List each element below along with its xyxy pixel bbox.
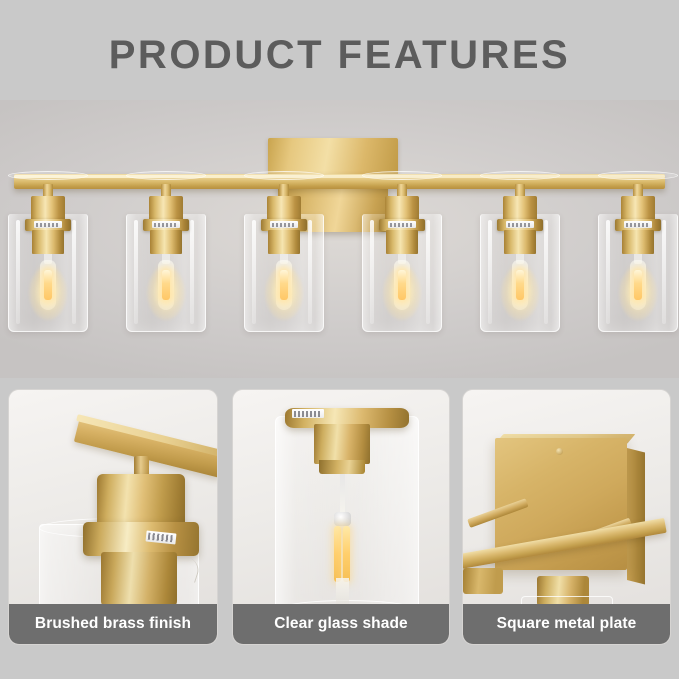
rail-highlight bbox=[14, 175, 665, 178]
bulb-stem bbox=[340, 474, 345, 516]
filament-right bbox=[343, 526, 350, 582]
header: PRODUCT FEATURES bbox=[0, 0, 679, 110]
socket-cap bbox=[97, 474, 185, 528]
sticker-microtext bbox=[148, 533, 175, 543]
bulb-socket bbox=[314, 424, 370, 464]
glass-glint-left bbox=[488, 220, 492, 324]
glass-bottom-rim bbox=[126, 171, 206, 180]
bulb-glass-base bbox=[336, 578, 349, 606]
socket-body bbox=[622, 230, 654, 254]
glass-glint-left bbox=[370, 220, 374, 324]
glass-glint-right bbox=[72, 220, 76, 324]
rating-sticker bbox=[624, 221, 652, 228]
glass-bottom-rim bbox=[362, 171, 442, 180]
socket-body bbox=[150, 230, 182, 254]
rating-sticker bbox=[388, 221, 416, 228]
rating-sticker bbox=[270, 221, 298, 228]
feature-panel-clear-glass-shade[interactable]: Clear glass shade bbox=[232, 389, 450, 645]
bulb-filament bbox=[162, 270, 170, 300]
glass-glint-left bbox=[252, 220, 256, 324]
glass-bottom-rim bbox=[480, 171, 560, 180]
sticker-microtext bbox=[294, 411, 322, 417]
socket-top bbox=[385, 196, 419, 221]
glass-bottom-rim bbox=[598, 171, 678, 180]
socket-top bbox=[267, 196, 301, 221]
glass-bottom-rim bbox=[244, 171, 324, 180]
glass-glint-left bbox=[606, 220, 610, 324]
glass-glint-right bbox=[426, 220, 430, 324]
rating-sticker bbox=[34, 221, 62, 228]
socket-top bbox=[621, 196, 655, 221]
panel-caption: Clear glass shade bbox=[233, 604, 449, 644]
sticker-microtext bbox=[390, 223, 414, 227]
plate-side-edge bbox=[627, 448, 645, 584]
rating-sticker bbox=[292, 409, 324, 418]
glass-glint-right bbox=[662, 220, 666, 324]
sticker-microtext bbox=[154, 223, 178, 227]
sticker-microtext bbox=[626, 223, 650, 227]
glass-glint-right bbox=[308, 220, 312, 324]
bulb-filament bbox=[516, 270, 524, 300]
glass-bottom-rim bbox=[8, 171, 88, 180]
glass-glint-right bbox=[544, 220, 548, 324]
glass-glint-left bbox=[16, 220, 20, 324]
page-title: PRODUCT FEATURES bbox=[109, 35, 570, 75]
socket-top bbox=[149, 196, 183, 221]
feature-panels: Brushed brass finish Clear glass shade bbox=[0, 389, 679, 651]
bulb-filament bbox=[398, 270, 406, 300]
socket-left bbox=[463, 568, 503, 594]
socket-body bbox=[32, 230, 64, 254]
socket-body bbox=[386, 230, 418, 254]
socket-base bbox=[101, 552, 177, 606]
bulb-filament bbox=[634, 270, 642, 300]
sticker-microtext bbox=[508, 223, 532, 227]
square-metal-plate-photo bbox=[463, 390, 670, 606]
socket-collar-ring bbox=[83, 522, 199, 556]
rating-sticker bbox=[506, 221, 534, 228]
rating-sticker bbox=[152, 221, 180, 228]
panel-caption: Brushed brass finish bbox=[9, 604, 217, 644]
brushed-brass-finish-photo bbox=[9, 390, 217, 606]
clear-glass-shade-photo bbox=[233, 390, 449, 606]
feature-panel-square-metal-plate[interactable]: Square metal plate bbox=[462, 389, 671, 645]
glass-glint-right bbox=[190, 220, 194, 324]
glass-glint-left bbox=[134, 220, 138, 324]
bulb-filament-mount bbox=[334, 512, 351, 526]
bulb-filament bbox=[280, 270, 288, 300]
feature-panel-brushed-brass-finish[interactable]: Brushed brass finish bbox=[8, 389, 218, 645]
sticker-microtext bbox=[272, 223, 296, 227]
filament-left bbox=[334, 526, 341, 582]
hero-product-image bbox=[0, 100, 679, 378]
socket-body bbox=[268, 230, 300, 254]
plate-screw bbox=[556, 448, 563, 455]
socket-top bbox=[31, 196, 65, 221]
socket-body bbox=[504, 230, 536, 254]
socket-top bbox=[503, 196, 537, 221]
panel-caption: Square metal plate bbox=[463, 604, 670, 644]
bulb-socket-base bbox=[319, 460, 365, 474]
sticker-microtext bbox=[36, 223, 60, 227]
bulb-filament bbox=[44, 270, 52, 300]
